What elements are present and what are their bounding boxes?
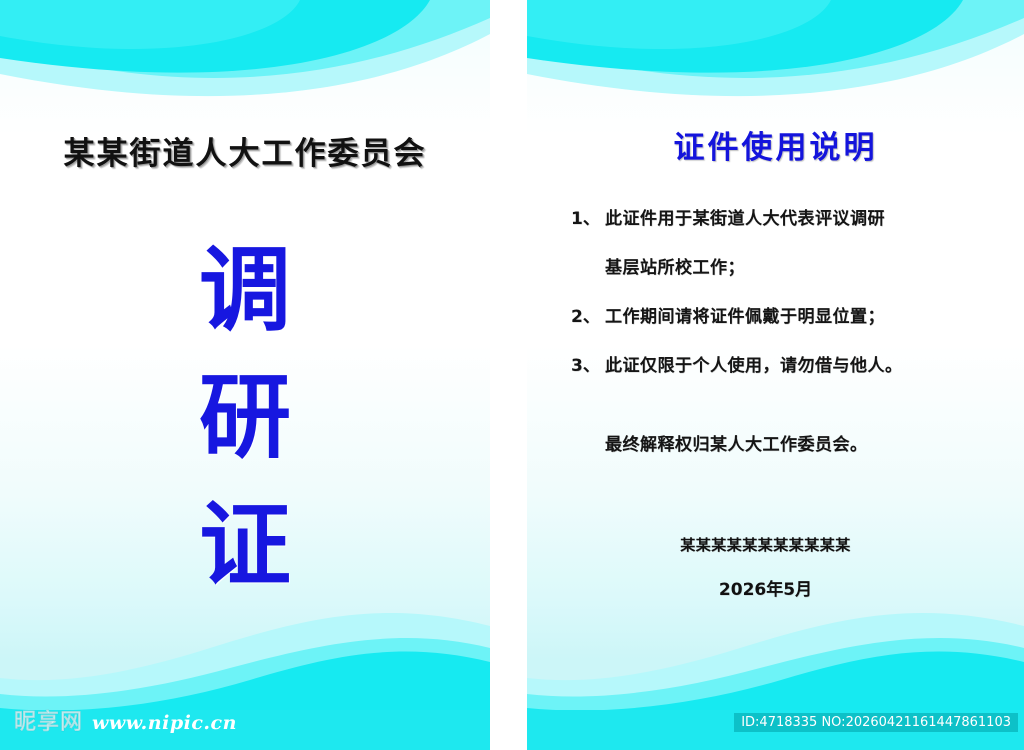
top-wave-decoration-right (527, 0, 1024, 130)
certificate-back-panel[interactable]: 证件使用说明 1、 此证件用于某街道人大代表评议调研 基层站所校工作； 2、 工… (527, 0, 1024, 750)
closing-note: 最终解释权归某人大工作委员会。 (605, 430, 868, 455)
notice-line: 基层站所校工作； (605, 253, 1011, 283)
watermark-site-name: 昵享网 (14, 704, 83, 736)
notice-line: 工作期间请将证件佩戴于明显位置； (605, 302, 1011, 332)
issue-date: 2026年5月 (527, 575, 1024, 600)
issuer-signature: 某某某某某某某某某某某 (527, 534, 1024, 555)
notice-lines: 此证仅限于个人使用，请勿借与他人。 (605, 351, 1011, 381)
certificate-front-panel[interactable]: 某某街道人大工作委员会 调 研 证 昵享网 www.nipic.cn (0, 0, 490, 750)
notice-number: 2、 (571, 302, 605, 332)
notice-title: 证件使用说明 (527, 122, 1024, 167)
notice-number: 3、 (571, 351, 605, 381)
notice-lines: 工作期间请将证件佩戴于明显位置； (605, 302, 1011, 332)
notice-item: 3、 此证仅限于个人使用，请勿借与他人。 (571, 351, 1011, 381)
notice-line: 此证件用于某街道人大代表评议调研 (605, 204, 1011, 253)
notice-number: 1、 (571, 204, 605, 234)
watermark-logo: 昵享网 www.nipic.cn (14, 704, 237, 736)
top-wave-decoration-left (0, 0, 490, 130)
notice-item: 1、 此证件用于某街道人大代表评议调研 基层站所校工作； (571, 204, 1011, 283)
big-char-3: 证 (0, 500, 490, 592)
watermark-site-url: www.nipic.cn (92, 712, 237, 734)
notice-line: 此证仅限于个人使用，请勿借与他人。 (605, 351, 1011, 381)
big-char-2: 研 (0, 372, 490, 464)
watermark-id-badge: ID:4718335 NO:20260421161447861103 (734, 713, 1018, 732)
notice-list: 1、 此证件用于某街道人大代表评议调研 基层站所校工作； 2、 工作期间请将证件… (571, 204, 1011, 385)
big-char-1: 调 (0, 245, 490, 337)
poster-canvas: 某某街道人大工作委员会 调 研 证 昵享网 www.nipic.cn (0, 0, 1024, 750)
notice-lines: 此证件用于某街道人大代表评议调研 基层站所校工作； (605, 204, 1011, 283)
organization-title: 某某街道人大工作委员会 (0, 128, 490, 173)
notice-item: 2、 工作期间请将证件佩戴于明显位置； (571, 302, 1011, 332)
